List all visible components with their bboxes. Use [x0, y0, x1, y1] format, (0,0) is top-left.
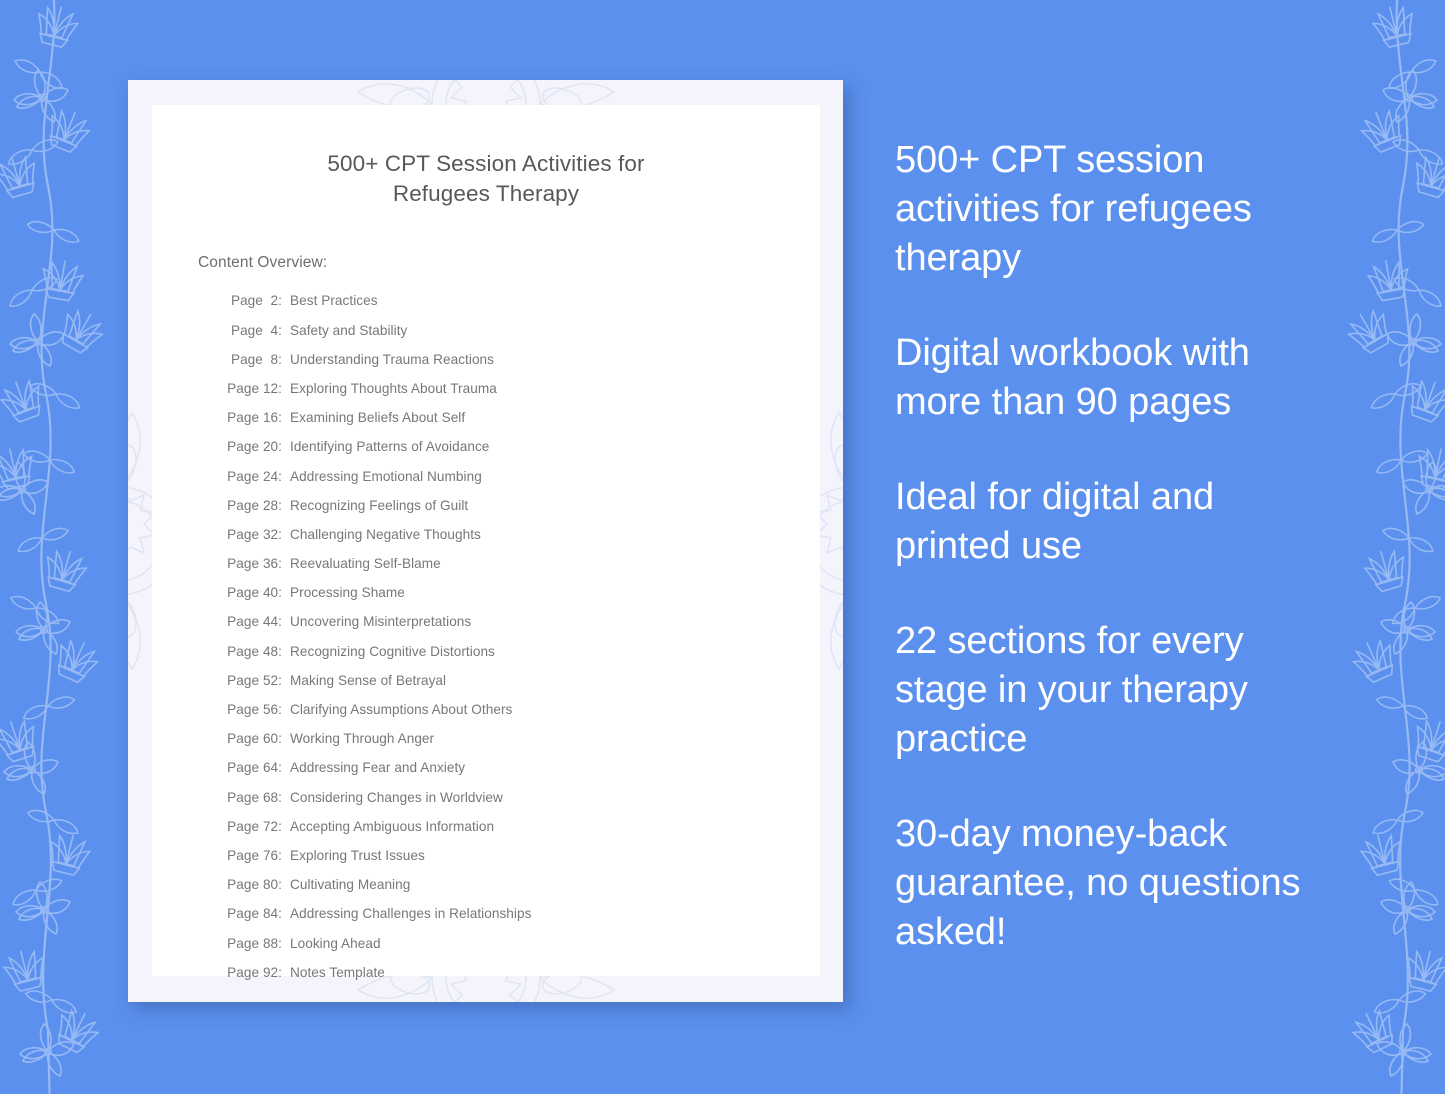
toc-entry-title: Addressing Challenges in Relationships	[282, 906, 531, 921]
list-item: Page 92:Notes Template	[222, 965, 820, 994]
toc-entry-title: Cultivating Meaning	[282, 877, 410, 892]
list-item: Page 32:Challenging Negative Thoughts	[222, 527, 820, 556]
toc-page-number: Page 52:	[222, 673, 282, 688]
list-item: Page 56:Clarifying Assumptions About Oth…	[222, 702, 820, 731]
toc-page-number: Page 64:	[222, 760, 282, 775]
toc-entry-title: Best Practices	[282, 293, 378, 308]
toc-page-number: Page 88:	[222, 936, 282, 951]
table-of-contents: Page 2:Best Practices Page 4:Safety and …	[152, 272, 820, 994]
floral-vine-left-decoration	[0, 0, 142, 1094]
toc-entry-title: Reevaluating Self-Blame	[282, 556, 441, 571]
list-item: Page 24:Addressing Emotional Numbing	[222, 469, 820, 498]
list-item: Page 40:Processing Shame	[222, 585, 820, 614]
toc-page-number: Page 80:	[222, 877, 282, 892]
toc-entry-title: Recognizing Cognitive Distortions	[282, 644, 495, 659]
list-item: Page 52:Making Sense of Betrayal	[222, 673, 820, 702]
toc-entry-title: Considering Changes in Worldview	[282, 790, 503, 805]
toc-page-number: Page 72:	[222, 819, 282, 834]
content-overview-label: Content Overview:	[152, 208, 820, 272]
toc-entry-title: Examining Beliefs About Self	[282, 410, 465, 425]
list-item: Page 80:Cultivating Meaning	[222, 877, 820, 906]
toc-page-number: Page 60:	[222, 731, 282, 746]
promo-line: Ideal for digital and printed use	[895, 473, 1325, 571]
toc-entry-title: Addressing Emotional Numbing	[282, 469, 482, 484]
floral-vine-right-decoration	[1309, 0, 1445, 1094]
toc-entry-title: Exploring Trust Issues	[282, 848, 425, 863]
page-title-line-1: 500+ CPT Session Activities for	[327, 151, 644, 176]
toc-page-number: Page 28:	[222, 498, 282, 513]
toc-entry-title: Safety and Stability	[282, 323, 407, 338]
toc-entry-title: Understanding Trauma Reactions	[282, 352, 494, 367]
toc-page-number: Page 4:	[222, 323, 282, 338]
list-item: Page 72:Accepting Ambiguous Information	[222, 819, 820, 848]
toc-entry-title: Notes Template	[282, 965, 385, 980]
toc-entry-title: Addressing Fear and Anxiety	[282, 760, 465, 775]
product-preview-card: 500+ CPT Session Activities for Refugees…	[128, 80, 843, 1002]
list-item: Page 88:Looking Ahead	[222, 936, 820, 965]
page-title: 500+ CPT Session Activities for Refugees…	[152, 105, 820, 208]
promo-feature-list: 500+ CPT session activities for refugees…	[895, 136, 1325, 957]
toc-page-number: Page 76:	[222, 848, 282, 863]
toc-entry-title: Exploring Thoughts About Trauma	[282, 381, 497, 396]
toc-entry-title: Recognizing Feelings of Guilt	[282, 498, 468, 513]
list-item: Page 36:Reevaluating Self-Blame	[222, 556, 820, 585]
list-item: Page 84:Addressing Challenges in Relatio…	[222, 906, 820, 935]
list-item: Page 76:Exploring Trust Issues	[222, 848, 820, 877]
list-item: Page 28:Recognizing Feelings of Guilt	[222, 498, 820, 527]
list-item: Page 20:Identifying Patterns of Avoidanc…	[222, 439, 820, 468]
toc-page-number: Page 16:	[222, 410, 282, 425]
promo-line: 30-day money-back guarantee, no question…	[895, 810, 1325, 957]
toc-entry-title: Processing Shame	[282, 585, 405, 600]
list-item: Page 2:Best Practices	[222, 293, 820, 322]
workbook-page: 500+ CPT Session Activities for Refugees…	[152, 105, 820, 976]
list-item: Page 44:Uncovering Misinterpretations	[222, 614, 820, 643]
toc-page-number: Page 12:	[222, 381, 282, 396]
toc-page-number: Page 68:	[222, 790, 282, 805]
toc-entry-title: Challenging Negative Thoughts	[282, 527, 481, 542]
toc-entry-title: Looking Ahead	[282, 936, 381, 951]
toc-page-number: Page 56:	[222, 702, 282, 717]
toc-entry-title: Accepting Ambiguous Information	[282, 819, 494, 834]
page-title-line-2: Refugees Therapy	[393, 181, 579, 206]
list-item: Page 4:Safety and Stability	[222, 323, 820, 352]
toc-page-number: Page 44:	[222, 614, 282, 629]
toc-page-number: Page 24:	[222, 469, 282, 484]
toc-page-number: Page 2:	[222, 293, 282, 308]
toc-entry-title: Clarifying Assumptions About Others	[282, 702, 512, 717]
toc-page-number: Page 32:	[222, 527, 282, 542]
promo-line: 22 sections for every stage in your ther…	[895, 617, 1325, 764]
list-item: Page 8:Understanding Trauma Reactions	[222, 352, 820, 381]
toc-page-number: Page 40:	[222, 585, 282, 600]
toc-page-number: Page 84:	[222, 906, 282, 921]
toc-entry-title: Uncovering Misinterpretations	[282, 614, 471, 629]
toc-entry-title: Making Sense of Betrayal	[282, 673, 446, 688]
toc-entry-title: Working Through Anger	[282, 731, 434, 746]
list-item: Page 16:Examining Beliefs About Self	[222, 410, 820, 439]
toc-page-number: Page 92:	[222, 965, 282, 980]
list-item: Page 12:Exploring Thoughts About Trauma	[222, 381, 820, 410]
list-item: Page 48:Recognizing Cognitive Distortion…	[222, 644, 820, 673]
toc-page-number: Page 8:	[222, 352, 282, 367]
toc-page-number: Page 36:	[222, 556, 282, 571]
toc-entry-title: Identifying Patterns of Avoidance	[282, 439, 489, 454]
list-item: Page 60:Working Through Anger	[222, 731, 820, 760]
list-item: Page 64:Addressing Fear and Anxiety	[222, 760, 820, 789]
promo-line: Digital workbook with more than 90 pages	[895, 329, 1325, 427]
toc-page-number: Page 48:	[222, 644, 282, 659]
promo-line: 500+ CPT session activities for refugees…	[895, 136, 1325, 283]
toc-page-number: Page 20:	[222, 439, 282, 454]
list-item: Page 68:Considering Changes in Worldview	[222, 790, 820, 819]
